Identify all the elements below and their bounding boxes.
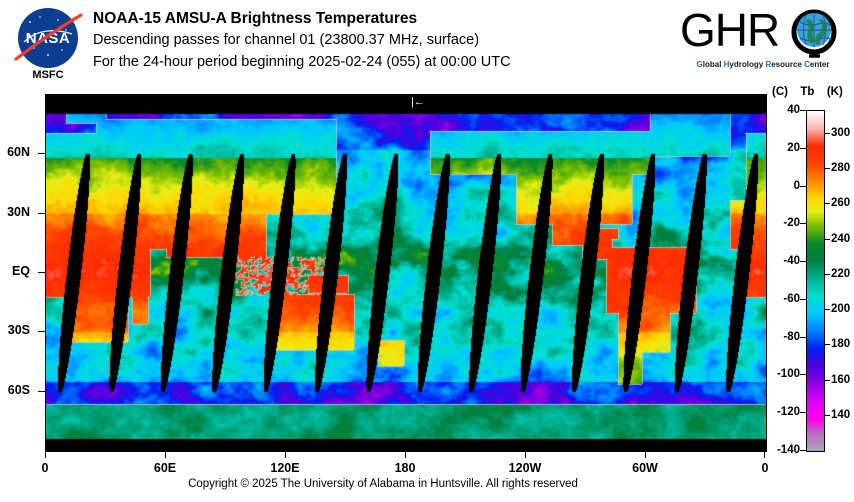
colorbar-unit-kelvin: (K)	[827, 86, 843, 98]
colorbar-gradient	[807, 111, 824, 451]
colorbar-kelvin-tick-mark	[824, 239, 830, 240]
colorbar-celsius-tick-mark	[800, 186, 806, 187]
ghrc-logo: GHR Global Hydrology Resource Center	[678, 4, 848, 78]
lon-tick-mark	[165, 451, 166, 458]
lat-tick-mark	[38, 391, 45, 392]
colorbar-unit-celsius: (C)	[772, 86, 788, 98]
colorbar-celsius-tick-mark	[800, 450, 806, 451]
colorbar-kelvin-tick-1: 280	[831, 162, 850, 174]
lon-tick-label-4: 120W	[509, 461, 542, 475]
lon-tick-mark	[645, 451, 646, 458]
colorbar-celsius-tick-0: 40	[758, 104, 800, 116]
colorbar-celsius-tick-8: -120	[758, 406, 800, 418]
lon-tick-label-6: 0	[762, 461, 769, 475]
colorbar-kelvin-tick-mark	[824, 415, 830, 416]
nasa-swoosh-icon	[13, 12, 83, 64]
colorbar-kelvin-tick-mark	[824, 168, 830, 169]
longitude-axis: 060E120E180120W60W0	[45, 451, 767, 481]
colorbar-celsius-tick-mark	[800, 412, 806, 413]
ghrc-wordmark-icon: GHR	[678, 6, 848, 58]
lon-tick-mark	[45, 451, 46, 458]
lon-tick-label-1: 60E	[154, 461, 176, 475]
lat-tick-mark	[38, 153, 45, 154]
svg-text:GHR: GHR	[680, 6, 779, 56]
colorbar-celsius-tick-mark	[800, 223, 806, 224]
lat-tick-label-30n: 30N	[7, 205, 30, 219]
colorbar-kelvin-tick-mark	[824, 274, 830, 275]
colorbar-scale	[806, 110, 825, 452]
lon-tick-label-5: 60W	[632, 461, 658, 475]
lat-tick-label-eq: EQ	[12, 264, 30, 278]
colorbar-kelvin-tick-3: 240	[831, 233, 850, 245]
colorbar-header: (C) Tb (K)	[772, 86, 854, 98]
lon-tick-mark	[405, 451, 406, 458]
brightness-temperature-raster[interactable]	[46, 95, 766, 451]
colorbar-kelvin-tick-2: 260	[831, 197, 850, 209]
colorbar-celsius-tick-7: -100	[758, 368, 800, 380]
colorbar-kelvin-tick-mark	[824, 133, 830, 134]
lat-tick-mark	[38, 331, 45, 332]
title-block: NOAA-15 AMSU-A Brightness Temperatures D…	[93, 8, 653, 73]
colorbar-celsius-tick-mark	[800, 148, 806, 149]
colorbar-celsius-tick-mark	[800, 110, 806, 111]
ghrc-tagline: Global Hydrology Resource Center	[678, 60, 848, 69]
channel-subtitle: Descending passes for channel 01 (23800.…	[93, 29, 653, 51]
figure-root: NASA MSFC NOAA-15 AMSU-A Brightness Temp…	[0, 0, 854, 502]
lat-tick-mark	[38, 213, 45, 214]
colorbar-kelvin-tick-5: 200	[831, 303, 850, 315]
nasa-meatball-icon: NASA MSFC	[12, 8, 84, 86]
colorbar-celsius-tick-1: 20	[758, 142, 800, 154]
lon-tick-mark	[525, 451, 526, 458]
lat-tick-label-30s: 30S	[8, 323, 30, 337]
descending-node-marker-icon: |←	[411, 97, 425, 108]
lon-tick-mark	[285, 451, 286, 458]
colorbar-kelvin-tick-mark	[824, 380, 830, 381]
colorbar-celsius-tick-2: 0	[758, 180, 800, 192]
page-title: NOAA-15 AMSU-A Brightness Temperatures	[93, 8, 653, 29]
period-subtitle: For the 24-hour period beginning 2025-02…	[93, 51, 653, 73]
colorbar-celsius-tick-mark	[800, 374, 806, 375]
colorbar-celsius-tick-6: -80	[758, 331, 800, 343]
lon-tick-label-3: 180	[395, 461, 416, 475]
lon-tick-label-2: 120E	[270, 461, 299, 475]
map-panel[interactable]: |←	[45, 94, 767, 452]
colorbar-kelvin-tick-8: 140	[831, 409, 850, 421]
lat-tick-mark	[38, 272, 45, 273]
colorbar-celsius-tick-5: -60	[758, 293, 800, 305]
colorbar-kelvin-tick-7: 160	[831, 374, 850, 386]
colorbar-kelvin-tick-4: 220	[831, 268, 850, 280]
copyright-notice: Copyright © 2025 The University of Alaba…	[0, 478, 766, 490]
colorbar-celsius-tick-9: -140	[758, 444, 800, 456]
nasa-center-label: MSFC	[12, 69, 84, 81]
colorbar-kelvin-tick-0: 300	[831, 127, 850, 139]
lat-tick-label-60s: 60S	[8, 383, 30, 397]
colorbar-kelvin-tick-6: 180	[831, 338, 850, 350]
lon-tick-label-0: 0	[42, 461, 49, 475]
colorbar-celsius-tick-4: -40	[758, 255, 800, 267]
colorbar-variable: Tb	[800, 86, 814, 98]
colorbar-kelvin-tick-mark	[824, 203, 830, 204]
colorbar-kelvin-tick-mark	[824, 344, 830, 345]
colorbar-celsius-tick-mark	[800, 299, 806, 300]
lat-tick-label-60n: 60N	[7, 145, 30, 159]
colorbar-celsius-tick-3: -20	[758, 217, 800, 229]
colorbar-celsius-tick-mark	[800, 261, 806, 262]
colorbar-celsius-tick-mark	[800, 337, 806, 338]
colorbar-kelvin-tick-mark	[824, 309, 830, 310]
latitude-axis: 60N30NEQ30S60S	[0, 94, 42, 450]
